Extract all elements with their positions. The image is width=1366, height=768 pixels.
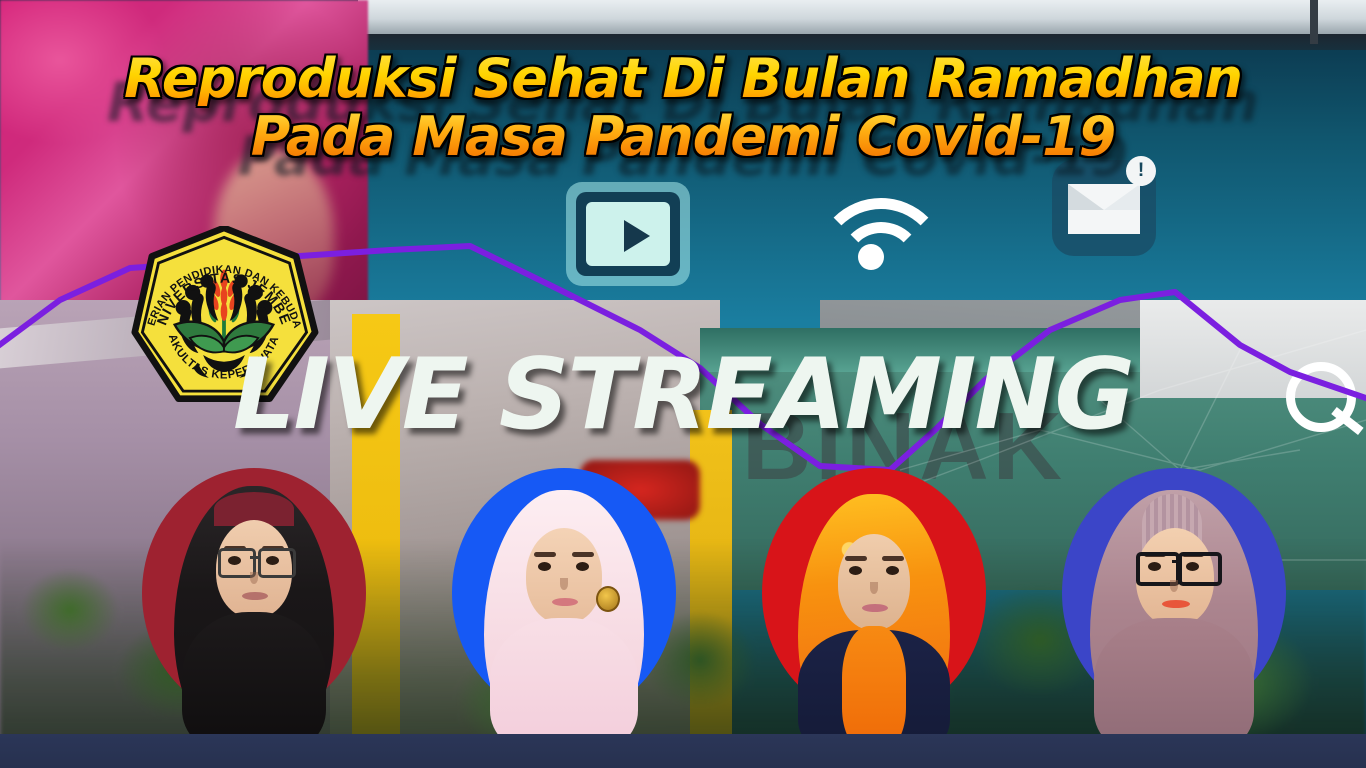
speaker-3-brow-right bbox=[882, 556, 904, 561]
speaker-2-lips bbox=[552, 598, 578, 606]
speaker-2-eye-left bbox=[538, 562, 551, 571]
speaker-2-face bbox=[526, 528, 602, 624]
speaker-3-eye-left bbox=[849, 566, 862, 575]
speaker-4-nose bbox=[1170, 580, 1178, 592]
speaker-4-lips bbox=[1162, 600, 1190, 608]
speaker-4-portrait bbox=[1062, 468, 1286, 748]
speaker-4-head bbox=[1090, 490, 1258, 748]
speaker-1-shoulders bbox=[182, 612, 326, 748]
speaker-3-brow-left bbox=[845, 556, 867, 561]
speaker-1-head bbox=[174, 486, 334, 748]
speaker-2-shoulders bbox=[490, 618, 638, 748]
speaker-3-nose bbox=[870, 582, 878, 594]
speaker-1-nose bbox=[250, 572, 258, 584]
speaker-3-eye-right bbox=[886, 566, 899, 575]
speaker-3-head bbox=[798, 494, 950, 748]
speaker-2-nose bbox=[560, 578, 568, 590]
speaker-2-portrait bbox=[452, 468, 676, 748]
live-streaming-poster: BINAK ! bbox=[0, 0, 1366, 768]
speaker-2-head bbox=[484, 490, 644, 748]
speaker-4-shoulders bbox=[1094, 618, 1254, 748]
speaker-2-brooch bbox=[596, 586, 620, 612]
speaker-4-glasses-right bbox=[1178, 552, 1222, 586]
speaker-2-brow-right bbox=[572, 552, 594, 557]
speaker-1-glasses-right bbox=[258, 548, 296, 578]
bottom-navy-band bbox=[0, 734, 1366, 768]
speaker-1-lips bbox=[242, 592, 268, 600]
speaker-3-lips bbox=[862, 604, 888, 612]
speaker-4-glasses-bridge bbox=[1172, 560, 1180, 563]
speaker-1-glasses-bridge bbox=[250, 556, 258, 559]
speaker-2-brow-left bbox=[534, 552, 556, 557]
speaker-3-scarf bbox=[842, 626, 906, 748]
speaker-1-portrait bbox=[142, 468, 366, 748]
speaker-2-eye-right bbox=[576, 562, 589, 571]
speaker-3-portrait bbox=[762, 468, 986, 748]
universitas-jember-logo: KEMENTERIAN PENDIDIKAN DAN KEBUDAYAAN RI… bbox=[128, 226, 320, 412]
